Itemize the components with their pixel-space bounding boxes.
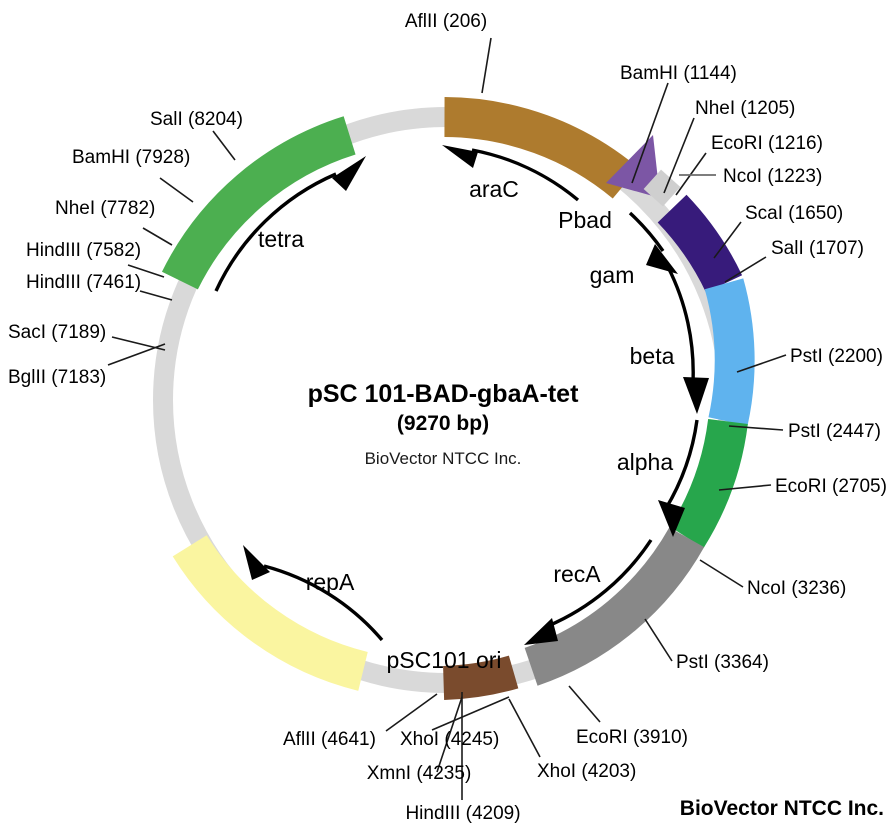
- site-label-sali-1707[interactable]: SalI (1707): [771, 238, 864, 259]
- leader-ncoi-3236: [700, 560, 743, 587]
- site-label-ncoi-1223[interactable]: NcoI (1223): [723, 166, 822, 187]
- site-label-bamhi-1144[interactable]: BamHI (1144): [620, 63, 737, 84]
- leader-nhei-1205: [664, 118, 694, 193]
- leader-sali-8204: [213, 131, 235, 160]
- site-label-xhoi-4203[interactable]: XhoI (4203): [537, 761, 636, 782]
- site-label-psti-2200[interactable]: PstI (2200): [790, 346, 883, 367]
- plasmid-size: (9270 bp): [397, 412, 489, 435]
- feature-arc-tetra[interactable]: [180, 135, 350, 280]
- site-label-psti-2447[interactable]: PstI (2447): [788, 421, 881, 442]
- site-label-ecori-1216[interactable]: EcoRI (1216): [711, 133, 823, 154]
- gene-label-gam[interactable]: gam: [590, 262, 635, 288]
- site-label-nhei-1205[interactable]: NheI (1205): [695, 98, 795, 119]
- plasmid-map-figure: AflII (206) BamHI (1144) NheI (1205) Eco…: [0, 0, 893, 837]
- site-label-ncoi-3236[interactable]: NcoI (3236): [747, 578, 846, 599]
- direction-arrow-tetra-head: [332, 156, 366, 191]
- site-label-nhei-7782[interactable]: NheI (7782): [55, 198, 155, 219]
- gene-label-tetra[interactable]: tetra: [258, 226, 304, 252]
- feature-arc-xhoi-fragment[interactable]: [444, 672, 514, 683]
- site-label-psti-3364[interactable]: PstI (3364): [676, 652, 769, 673]
- site-label-hindiii-7461[interactable]: HindIII (7461): [26, 272, 141, 293]
- gene-label-beta[interactable]: beta: [630, 343, 675, 369]
- site-label-xhoi-4245[interactable]: XhoI (4245): [400, 729, 499, 750]
- direction-arrow-reca-head: [524, 618, 558, 645]
- gene-label-alpha[interactable]: alpha: [617, 449, 673, 475]
- gene-label-repa[interactable]: repA: [306, 569, 355, 595]
- leader-nhei-7782: [143, 228, 172, 245]
- site-label-bamhi-7928[interactable]: BamHI (7928): [72, 147, 190, 168]
- leader-xhoi-4203: [509, 699, 540, 757]
- feature-arc-beta[interactable]: [724, 284, 735, 422]
- site-label-aflii-206[interactable]: AflII (206): [405, 11, 487, 32]
- leader-aflii-4641: [386, 694, 437, 731]
- plasmid-organization: BioVector NTCC Inc.: [365, 449, 522, 468]
- site-label-hindiii-4209[interactable]: HindIII (4209): [405, 803, 520, 824]
- plasmid-name: pSC 101-BAD-gbaA-tet: [308, 380, 580, 408]
- gene-label-pbad[interactable]: Pbad: [558, 207, 612, 233]
- leader-ecori-3910: [569, 686, 600, 722]
- leader-psti-3364: [645, 619, 672, 661]
- gene-label-arac[interactable]: araC: [469, 176, 519, 202]
- site-label-saci-7189[interactable]: SacI (7189): [8, 322, 106, 343]
- site-label-hindiii-7582[interactable]: HindIII (7582): [26, 240, 141, 261]
- site-label-xmni-4235[interactable]: XmnI (4235): [367, 763, 472, 784]
- plasmid-map-canvas: AflII (206) BamHI (1144) NheI (1205) Eco…: [0, 0, 893, 837]
- leader-aflii-206: [482, 38, 491, 93]
- gene-label-reca[interactable]: recA: [553, 561, 601, 587]
- site-label-scai-1650[interactable]: ScaI (1650): [745, 203, 843, 224]
- direction-arrow-repa-head: [243, 545, 270, 580]
- center-title-block: pSC 101-BAD-gbaA-tet (9270 bp) BioVector…: [308, 380, 580, 468]
- site-label-sali-8204[interactable]: SalI (8204): [150, 109, 243, 130]
- site-label-ecori-2705[interactable]: EcoRI (2705): [775, 476, 887, 497]
- site-label-ecori-3910[interactable]: EcoRI (3910): [576, 727, 688, 748]
- gene-label-psc101-ori[interactable]: pSC101 ori: [386, 647, 501, 673]
- site-label-bglii-7183[interactable]: BglII (7183): [8, 367, 106, 388]
- feature-arc-psc101-ori[interactable]: [190, 546, 363, 672]
- watermark-biovector: BioVector NTCC Inc.: [680, 797, 884, 820]
- site-label-aflii-4641[interactable]: AflII (4641): [283, 729, 376, 750]
- leader-hindiii-7461: [140, 291, 172, 300]
- leader-saci-7189: [112, 337, 165, 350]
- feature-arc-gam[interactable]: [672, 209, 724, 284]
- leader-ecori-1216: [676, 153, 706, 195]
- leader-bamhi-7928: [160, 178, 193, 202]
- direction-arrow-beta-head: [683, 377, 709, 414]
- leader-xhoi-4245: [432, 697, 509, 730]
